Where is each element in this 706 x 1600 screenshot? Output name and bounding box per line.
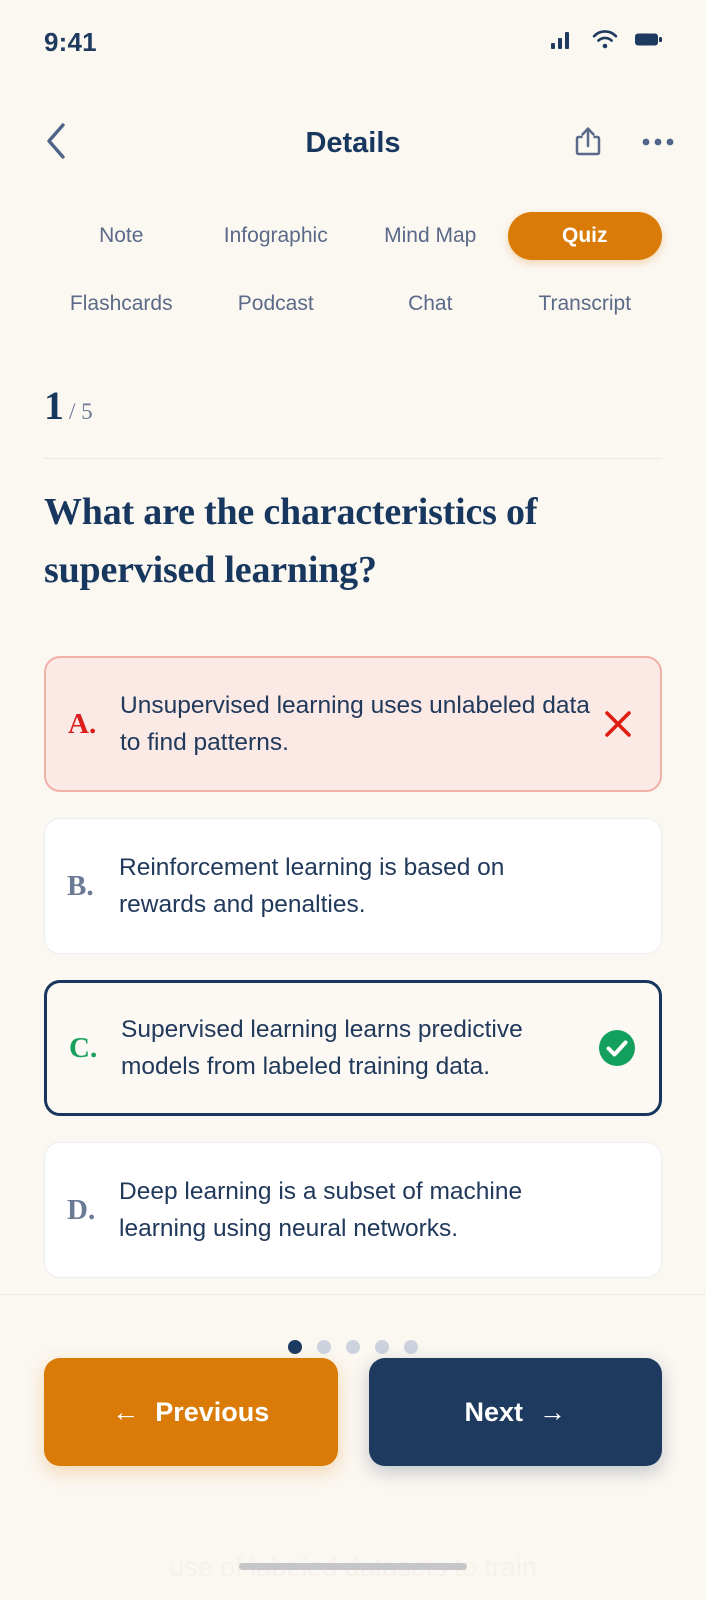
pagination-dots <box>0 1340 706 1354</box>
back-button[interactable] <box>34 121 78 165</box>
pagination-dot-4[interactable] <box>375 1340 389 1354</box>
option-text-d: Deep learning is a subset of machine lea… <box>119 1173 597 1247</box>
option-letter-c: C. <box>69 1032 121 1065</box>
status-bar: 9:41 <box>0 0 706 84</box>
x-mark-icon <box>598 704 638 744</box>
question-counter: 1 / 5 <box>44 386 93 426</box>
header-actions <box>568 123 678 163</box>
chevron-left-icon <box>45 122 67 165</box>
next-button[interactable]: Next → <box>369 1358 663 1466</box>
tab-quiz[interactable]: Quiz <box>508 212 663 260</box>
option-text-b: Reinforcement learning is based on rewar… <box>119 849 597 923</box>
answer-options-list: A. Unsupervised learning uses unlabeled … <box>44 656 662 1304</box>
arrow-right-icon: → <box>539 1397 566 1428</box>
pagination-dot-1[interactable] <box>288 1340 302 1354</box>
more-options-button[interactable] <box>638 123 678 163</box>
tab-mind-map[interactable]: Mind Map <box>353 212 508 260</box>
home-indicator[interactable] <box>239 1563 467 1570</box>
option-letter-d: D. <box>67 1194 119 1227</box>
tab-transcript[interactable]: Transcript <box>508 280 663 328</box>
option-text-a: Unsupervised learning uses unlabeled dat… <box>120 687 596 761</box>
wifi-icon <box>592 30 618 54</box>
share-icon <box>575 126 601 161</box>
option-letter-b: B. <box>67 870 119 903</box>
answer-option-c[interactable]: C. Supervised learning learns predictive… <box>44 980 662 1116</box>
pagination-dot-2[interactable] <box>317 1340 331 1354</box>
previous-button-label: Previous <box>155 1397 269 1428</box>
previous-button[interactable]: ← Previous <box>44 1358 338 1466</box>
share-button[interactable] <box>568 123 608 163</box>
status-icons-group <box>551 30 662 54</box>
pagination-dot-5[interactable] <box>404 1340 418 1354</box>
tab-podcast[interactable]: Podcast <box>199 280 354 328</box>
pagination-dot-3[interactable] <box>346 1340 360 1354</box>
tab-flashcards[interactable]: Flashcards <box>44 280 199 328</box>
answer-option-a[interactable]: A. Unsupervised learning uses unlabeled … <box>44 656 662 792</box>
counter-divider <box>44 458 662 459</box>
battery-icon <box>635 32 662 52</box>
phone-screen: 9:41 <box>0 0 706 1600</box>
check-circle-icon <box>597 1028 637 1068</box>
question-counter-total: / 5 <box>69 399 93 425</box>
question-counter-current: 1 <box>44 386 64 426</box>
arrow-left-icon: ← <box>112 1397 139 1428</box>
more-horizontal-icon <box>642 134 674 152</box>
answer-option-d[interactable]: D. Deep learning is a subset of machine … <box>44 1142 662 1278</box>
question-text: What are the characteristics of supervis… <box>44 484 624 600</box>
status-time: 9:41 <box>44 27 97 58</box>
option-letter-a: A. <box>68 708 120 741</box>
content-type-tabs: Note Infographic Mind Map Quiz Flashcard… <box>44 212 662 328</box>
tab-chat[interactable]: Chat <box>353 280 508 328</box>
page-header: Details <box>0 110 706 176</box>
next-button-label: Next <box>464 1397 523 1428</box>
bottom-divider <box>0 1294 706 1295</box>
signal-bars-icon <box>551 31 575 54</box>
tab-infographic[interactable]: Infographic <box>199 212 354 260</box>
navigation-buttons: ← Previous Next → <box>44 1358 662 1466</box>
answer-option-b[interactable]: B. Reinforcement learning is based on re… <box>44 818 662 954</box>
tab-note[interactable]: Note <box>44 212 199 260</box>
option-text-c: Supervised learning learns predictive mo… <box>121 1011 595 1085</box>
